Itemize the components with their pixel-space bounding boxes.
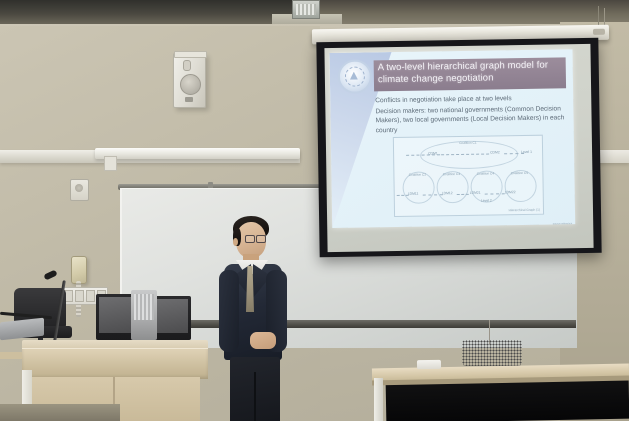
speaker-badge (185, 97, 193, 102)
slide-figure-hierarchical-graph: Coalition C1 CDM1 CDM2 Level 1 Coalition… (393, 135, 544, 217)
figure-upper-group-label: Coalition C1 (451, 142, 485, 146)
figure-node-label: LDM11 (408, 192, 419, 196)
wall-telephone[interactable] (71, 256, 87, 284)
slide-body-text: Conflicts in negotiation take place at t… (375, 93, 572, 137)
figure-caption: Hierarchical Graph (1) (509, 208, 540, 212)
track-bracket (104, 156, 117, 171)
sensor-dot-icon (75, 184, 83, 192)
eyeglasses-icon (245, 235, 266, 242)
projection-screen-surface: A two-level hierarchical graph model for… (324, 44, 593, 252)
figure-node-label: LDM21 (470, 191, 481, 195)
speaker-woofer (180, 74, 201, 95)
wooden-lectern (22, 348, 208, 379)
lecture-hall-scene: A two-level hierarchical graph model for… (0, 0, 629, 421)
whiteboard-marker-tray (124, 320, 576, 328)
figure-group-label: Coalition C2 (403, 173, 431, 177)
slide-bullet: Decision makers: two national government… (375, 104, 571, 135)
gooseneck-microphone[interactable] (44, 272, 68, 340)
slide-title-bar: A two-level hierarchical graph model for… (374, 57, 566, 91)
floor-shadow (0, 404, 120, 421)
table-shadow-area (386, 380, 629, 421)
figure-node-label: LDM22 (505, 190, 516, 194)
speaker-tweeter (183, 60, 191, 71)
slide-title: A two-level hierarchical graph model for… (378, 59, 562, 85)
figure-node-label: CDM2 (490, 150, 500, 154)
presentation-slide: A two-level hierarchical graph model for… (330, 49, 576, 228)
slide-bullet: Conflicts in negotiation take place at t… (375, 93, 571, 105)
trouser-seam (254, 372, 256, 421)
presenter-ear (233, 238, 238, 246)
ceiling-light-fixture-icon (292, 0, 320, 19)
wall-speaker-icon (173, 53, 206, 108)
outlet-port (75, 290, 84, 302)
slide-credit-text: source reference (553, 222, 573, 225)
microphone-head-icon (43, 270, 57, 281)
outlet-port (86, 290, 95, 302)
table-leg (374, 378, 383, 421)
figure-group-label: Coalition C3 (437, 173, 465, 177)
wall-sensor-plate (70, 179, 89, 201)
figure-node-label: LDM12 (442, 191, 453, 195)
presenter-arm-left (219, 270, 239, 352)
projection-screen-border: A two-level hierarchical graph model for… (316, 38, 601, 257)
podium-computer-tower[interactable] (131, 290, 157, 340)
figure-group-label: Coalition C5 (505, 172, 533, 176)
figure-group-label: Coalition C4 (471, 172, 499, 176)
presenter-speaking (214, 212, 298, 421)
figure-level-lower-label: Level 2 (481, 198, 492, 202)
microphone-arm (53, 280, 66, 342)
white-object-on-table[interactable] (417, 360, 441, 369)
speaker-bracket (174, 51, 207, 58)
figure-edge (485, 193, 505, 194)
black-stacking-chair[interactable] (462, 340, 522, 366)
housing-end-cap (593, 29, 605, 35)
figure-edge (457, 194, 469, 195)
figure-node-label: CDM1 (428, 151, 438, 155)
figure-level-upper-label: Level 1 (521, 150, 532, 154)
ceiling-mounted-track (95, 148, 300, 159)
presenter-hands (250, 332, 276, 349)
